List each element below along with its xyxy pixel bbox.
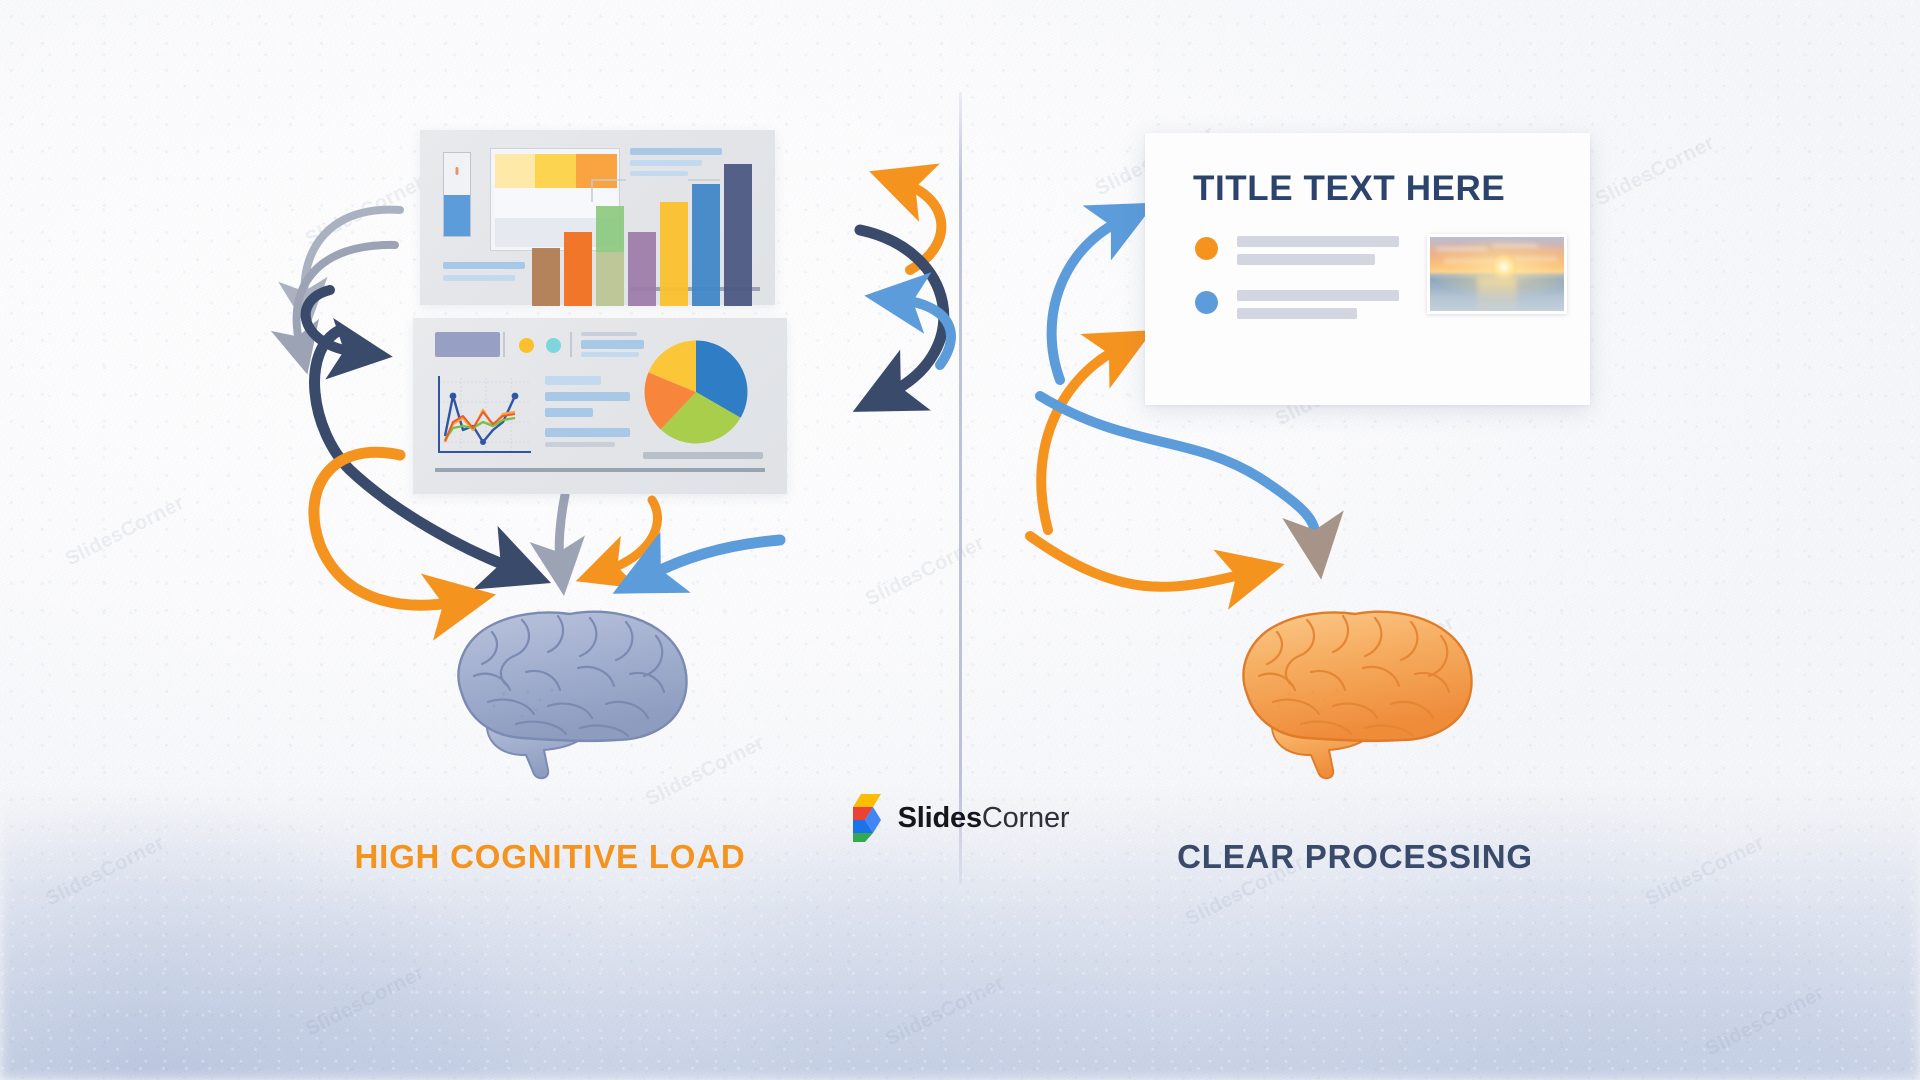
- bar: [628, 232, 656, 306]
- cluttered-bar-chart: [530, 140, 780, 308]
- brain-clear: [1215, 598, 1495, 783]
- brain-overloaded: [430, 598, 710, 783]
- mark-yellow: [853, 794, 881, 807]
- sunset-ocean-photo: [1427, 234, 1567, 314]
- slidescorner-mark: [851, 792, 885, 844]
- bullet-line: [1237, 290, 1399, 301]
- sun-reflection: [1477, 277, 1517, 311]
- mark-green: [853, 833, 873, 842]
- arrow-gray-1: [304, 210, 400, 300]
- bullet-line: [1237, 236, 1399, 247]
- gauge-marker: [456, 167, 459, 175]
- kpi-dot: [546, 338, 561, 353]
- bar: [692, 184, 720, 306]
- text-placeholder: [581, 332, 637, 336]
- bar-lower: [596, 252, 624, 306]
- arrow-blue-clean-down: [1040, 396, 1316, 538]
- vertical-gauge: [443, 152, 471, 237]
- slidescorner-logo[interactable]: SlidesCorner: [0, 792, 1920, 844]
- bar: [660, 202, 688, 306]
- text-placeholder: [545, 408, 593, 417]
- gauge-fill: [444, 195, 470, 237]
- clean-slide-card[interactable]: TITLE TEXT HERE: [1145, 133, 1590, 405]
- bar: [724, 164, 752, 306]
- text-placeholder: [581, 340, 644, 349]
- arrow-orange-clean-up: [1041, 350, 1116, 530]
- slide-canvas: SlidesCorner SlidesCorner SlidesCorner S…: [0, 0, 1920, 1080]
- text-placeholder: [545, 442, 615, 447]
- arrow-gray-3: [559, 495, 565, 562]
- chart-baseline: [435, 468, 765, 472]
- text-placeholder: [545, 428, 630, 437]
- bullet-dot-orange: [1195, 237, 1218, 260]
- bar-guide: [592, 180, 626, 202]
- divider-small: [570, 332, 572, 357]
- text-placeholder: [581, 352, 639, 357]
- logo-text-secondary: Corner: [982, 802, 1069, 834]
- header-block: [435, 332, 500, 357]
- arrow-orange-2: [608, 500, 658, 570]
- slide-title: TITLE TEXT HERE: [1193, 169, 1505, 209]
- arrow-orange-clean-down: [1030, 536, 1244, 587]
- multi-series-line-chart: [431, 370, 536, 465]
- bar: [532, 248, 560, 306]
- bullet-dot-blue: [1195, 291, 1218, 314]
- sun: [1491, 254, 1517, 280]
- bullet-line: [1237, 308, 1357, 319]
- slidescorner-wordmark: SlidesCorner: [898, 802, 1070, 835]
- dashboard-card-bottom[interactable]: [413, 318, 787, 494]
- text-placeholder: [443, 275, 515, 281]
- divider-small: [503, 332, 505, 357]
- bar: [564, 232, 592, 306]
- pie-chart: [640, 336, 752, 448]
- logo-text-primary: Slides: [898, 802, 982, 834]
- text-placeholder: [443, 262, 525, 269]
- text-placeholder: [545, 376, 601, 385]
- text-placeholder: [643, 452, 763, 459]
- text-placeholder: [545, 392, 630, 401]
- heat-cell: [495, 154, 535, 188]
- bullet-line: [1237, 254, 1375, 265]
- kpi-dot: [519, 338, 534, 353]
